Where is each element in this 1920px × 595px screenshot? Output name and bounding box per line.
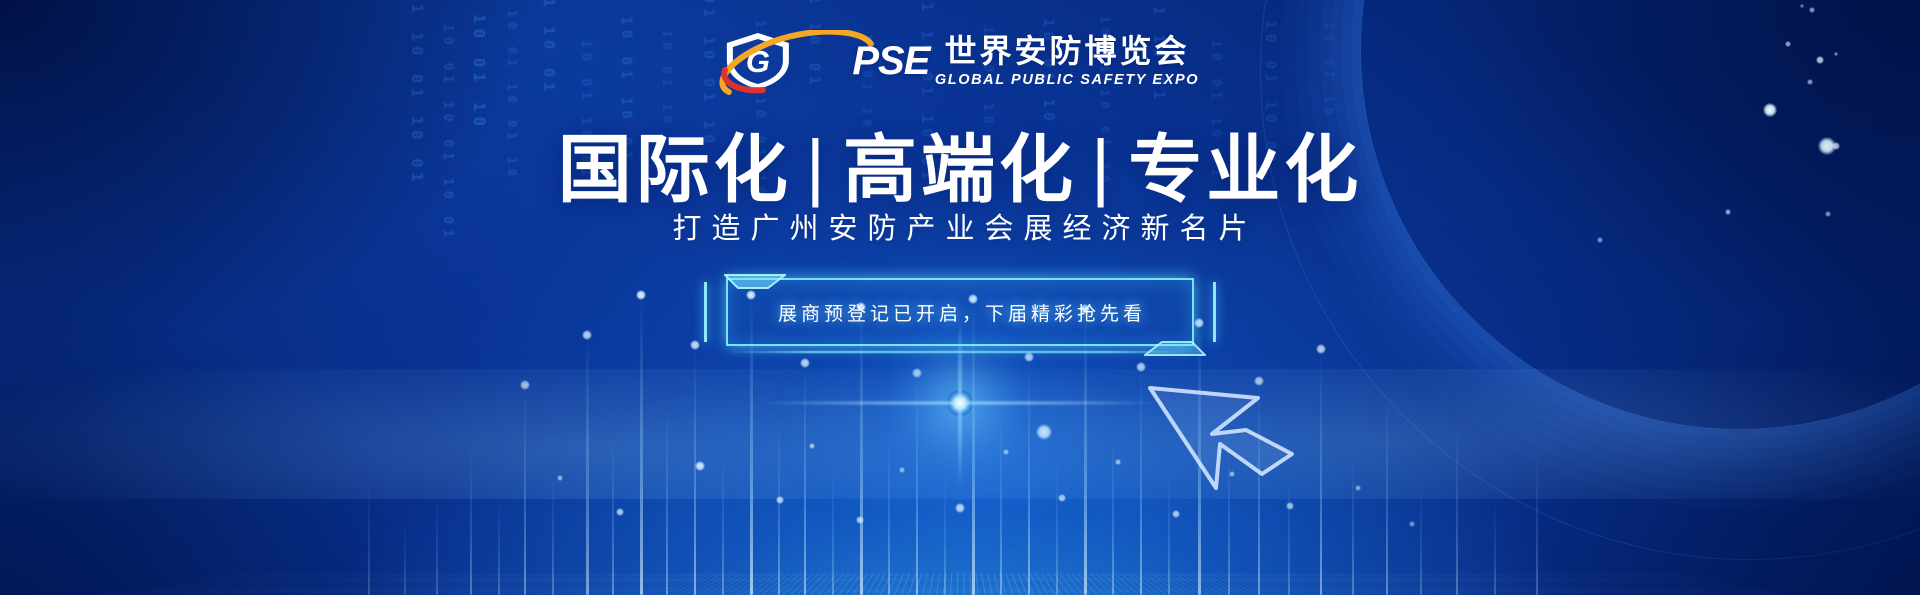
headline: 国际化|高端化|专业化 (0, 110, 1920, 217)
cta-text: 展商预登记已开启，下届精彩抢先看 (704, 268, 1216, 356)
subtitle: 打造广州安防产业会展经济新名片 (0, 205, 1920, 247)
promo-banner: 01 10 01 10 0110 01 10 01 10 0101 10 01 … (0, 0, 1920, 595)
headline-part-1: 国际化 (558, 128, 792, 211)
logo-wordmark: 世界安防博览会 GLOBAL PUBLIC SAFETY EXPO (935, 35, 1199, 88)
logo-title-en: GLOBAL PUBLIC SAFETY EXPO (935, 73, 1199, 88)
headline-separator-2: | (1077, 124, 1128, 209)
mouse-cursor-icon (1142, 382, 1322, 502)
orbit-swoosh-icon (717, 32, 823, 90)
headline-part-2: 高端化 (843, 128, 1077, 211)
headline-separator-1: | (792, 124, 843, 209)
logo-title-cn: 世界安防博览会 (944, 35, 1189, 67)
logo-mark-text: PSE (852, 39, 929, 84)
headline-part-3: 专业化 (1128, 128, 1362, 211)
cta-banner[interactable]: 展商预登记已开启，下届精彩抢先看 (704, 268, 1216, 356)
brand-logo[interactable]: G PSE 世界安防博览会 GLOBAL PUBLIC SAFETY EXPO (721, 30, 1199, 92)
